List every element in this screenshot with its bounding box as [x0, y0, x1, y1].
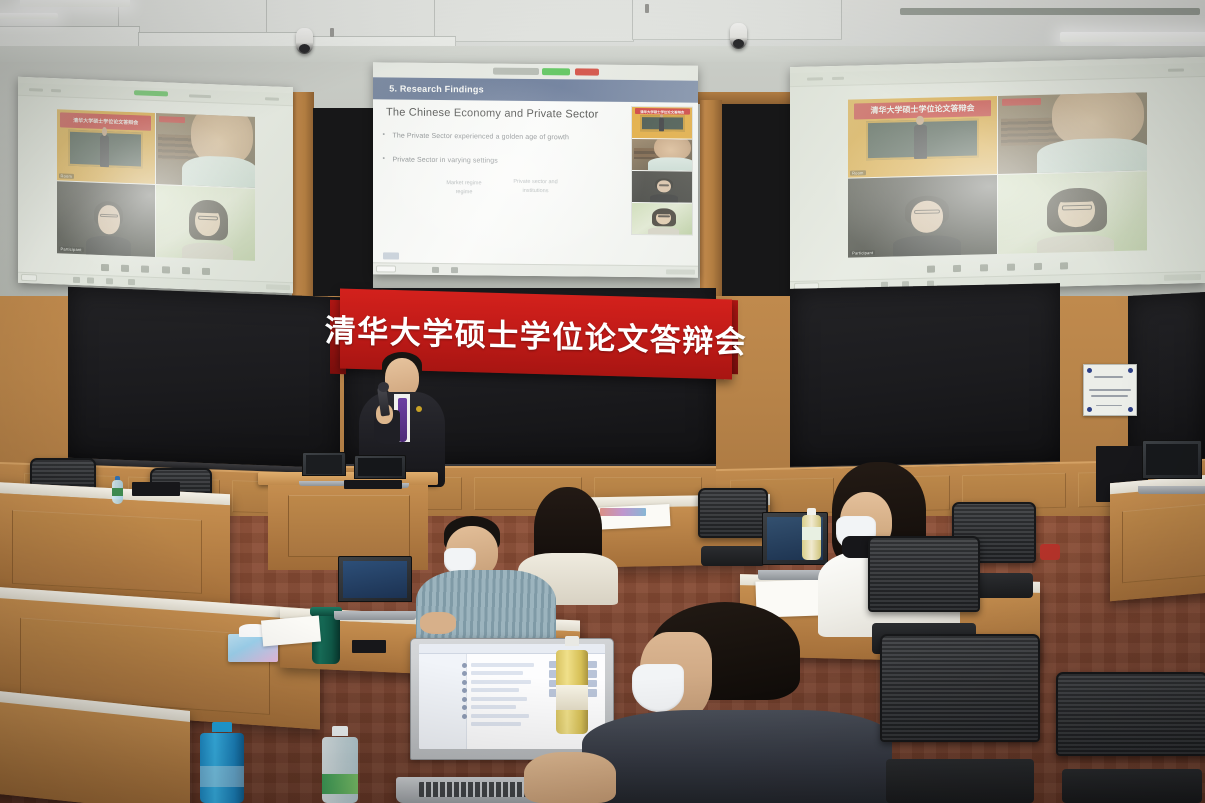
zoom-chat-icon[interactable]	[1034, 263, 1042, 270]
zoom-tile-participant-man[interactable]	[156, 113, 255, 188]
zoom-participants-icon[interactable]	[980, 264, 988, 271]
left-projection-screen[interactable]: 清华大学硕士学位论文答辩会 Room Participant	[18, 77, 293, 294]
taskbar-clock	[1164, 274, 1201, 281]
chair-far-right-front[interactable]	[1056, 672, 1205, 803]
taskbar-clock	[266, 284, 291, 290]
slide-section-ribbon: 5. Research Findings	[373, 77, 698, 103]
zoom-video-icon[interactable]	[121, 265, 129, 272]
red-object-far-right	[1040, 544, 1060, 560]
zoom-gallery-left: 清华大学硕士学位论文答辩会 Room Participant	[18, 77, 293, 294]
zoom-tile-room-camera[interactable]: 清华大学硕士学位论文答辩会 Room	[848, 96, 997, 178]
wall-plaque	[1083, 364, 1137, 416]
sprinkler-head	[645, 4, 649, 13]
dome-camera-center	[296, 28, 313, 54]
tile-name-label: Participant	[850, 250, 875, 256]
face-mask-foreground	[632, 664, 684, 712]
wood-pillar-left	[292, 92, 314, 307]
clear-water-bottle[interactable]	[322, 726, 358, 803]
tile-name-label: Room	[59, 174, 74, 180]
green-tea-bottle-right[interactable]	[802, 508, 821, 560]
far-right-laptop[interactable]	[1142, 440, 1202, 494]
chair-foreground-right[interactable]	[880, 634, 1040, 803]
slide-logo	[383, 253, 399, 260]
tile-name-label: Room	[850, 171, 865, 176]
zoom-mute-icon[interactable]	[101, 264, 109, 271]
strip-tile-room-camera[interactable]: 清华大学硕士学位论文答辩会	[632, 107, 692, 139]
slide-subcaption-2: Private sector and institutions	[497, 178, 575, 195]
audience-laptop-1[interactable]	[338, 556, 412, 620]
zoom-participants-icon[interactable]	[141, 265, 149, 272]
blue-sports-bottle[interactable]	[200, 722, 244, 803]
zoom-tile-grid: 清华大学硕士学位论文答辩会 Room Participant	[57, 109, 255, 261]
start-button[interactable]	[376, 265, 396, 273]
zoom-tile-participant-woman-bright[interactable]	[998, 172, 1147, 254]
zoom-participant-strip[interactable]: 清华大学硕士学位论文答辩会	[631, 106, 693, 236]
water-bottle-desk-left[interactable]	[112, 476, 123, 504]
ceiling-light-left	[20, 0, 130, 7]
lecture-hall-photo: 清华大学硕士学位论文答辩会 Room Participant	[0, 0, 1205, 803]
center-projection-screen[interactable]: 5. Research Findings The Chinese Economy…	[373, 62, 698, 277]
start-button[interactable]	[21, 274, 38, 282]
zoom-tile-participant-woman-dark[interactable]: Participant	[57, 182, 156, 257]
slide-presentation: 5. Research Findings The Chinese Economy…	[373, 62, 698, 277]
zoom-share-icon[interactable]	[162, 266, 170, 273]
sprinkler-head	[330, 28, 334, 37]
zoom-tile-participant-man[interactable]	[998, 92, 1147, 174]
hand-on-trackpad	[524, 752, 616, 803]
zoom-share-icon[interactable]	[1007, 264, 1015, 271]
ceiling-light-left-2	[0, 13, 58, 19]
podium-laptop-left[interactable]	[302, 452, 346, 486]
chalkboard-right	[790, 283, 1060, 471]
slide-bullet-1: The Private Sector experienced a golden …	[393, 133, 570, 142]
strip-tile-participant-man[interactable]	[632, 139, 692, 171]
hand-on-mouse	[420, 612, 456, 634]
strip-tile-participant-woman-bright[interactable]	[632, 203, 692, 235]
podium-cable-clutter	[344, 480, 402, 489]
zoom-tile-participant-woman-bright[interactable]	[156, 186, 255, 261]
desk-equipment-left	[132, 482, 180, 496]
dome-camera-right	[730, 23, 747, 49]
slide-subcaption-1: Market regime regime	[428, 179, 500, 196]
chalkboard-left	[68, 287, 340, 472]
slide-heading: The Chinese Economy and Private Sector	[386, 107, 598, 121]
zoom-tile-participant-woman-dark[interactable]: Participant	[848, 175, 997, 257]
wall-recess-left	[313, 108, 373, 304]
tile-name-label: Participant	[59, 246, 84, 252]
zoom-video-icon[interactable]	[953, 265, 961, 272]
zoom-record-icon[interactable]	[202, 268, 210, 275]
slide-section-title: 5. Research Findings	[389, 83, 484, 94]
zoom-tile-room-camera[interactable]: 清华大学硕士学位论文答辩会 Room	[57, 109, 156, 184]
zoom-chat-icon[interactable]	[182, 267, 190, 274]
zoom-tile-grid: 清华大学硕士学位论文答辩会 Room Participant	[848, 92, 1147, 257]
audience-man-foreground	[592, 602, 882, 803]
taskbar-clock	[666, 269, 695, 275]
zoom-record-icon[interactable]	[1060, 262, 1068, 269]
smartphone-on-desk[interactable]	[352, 640, 386, 653]
chair-right-3[interactable]	[698, 488, 768, 566]
slide-bullet-2: Private Sector in varying settings	[393, 157, 498, 165]
wood-pillar-right	[700, 100, 722, 300]
wall-recess-right	[722, 104, 790, 300]
right-projection-screen[interactable]: 清华大学硕士学位论文答辩会 Room Participant	[790, 57, 1205, 293]
zoom-mute-icon[interactable]	[927, 266, 935, 273]
zoom-gallery-right: 清华大学硕士学位论文答辩会 Room Participant	[790, 57, 1205, 293]
ceiling-light-right	[1060, 32, 1205, 42]
handout-papers-left[interactable]	[261, 616, 321, 647]
strip-tile-participant-woman-dark[interactable]	[632, 171, 692, 203]
yellow-tea-bottle[interactable]	[556, 636, 588, 734]
